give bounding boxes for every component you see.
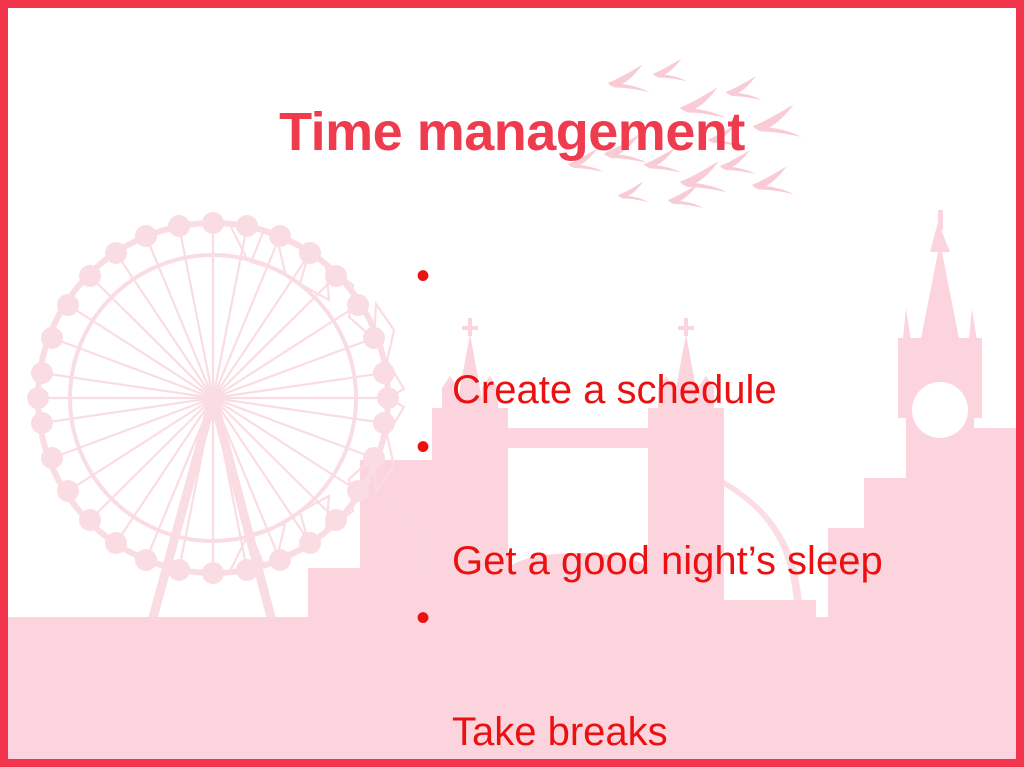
bullet-marker-icon: • xyxy=(416,419,430,476)
list-item: • Take breaks xyxy=(408,590,968,761)
list-item: • Get a good night’s sleep xyxy=(408,419,968,590)
list-item-label: Create a schedule xyxy=(452,368,777,412)
bullet-marker-icon: • xyxy=(416,761,430,767)
list-item: • No distractions while studying xyxy=(408,761,968,767)
bullet-list: • Create a schedule • Get a good night’s… xyxy=(408,248,968,767)
page-title: Time management xyxy=(8,104,1016,161)
slide-content: Time management • Create a schedule • Ge… xyxy=(8,8,1016,759)
slide: Time management • Create a schedule • Ge… xyxy=(0,0,1024,767)
bullet-marker-icon: • xyxy=(416,590,430,647)
bullet-marker-icon: • xyxy=(416,248,430,305)
list-item-label: Get a good night’s sleep xyxy=(452,539,883,583)
list-item: • Create a schedule xyxy=(408,248,968,419)
list-item-label: Take breaks xyxy=(452,710,668,754)
